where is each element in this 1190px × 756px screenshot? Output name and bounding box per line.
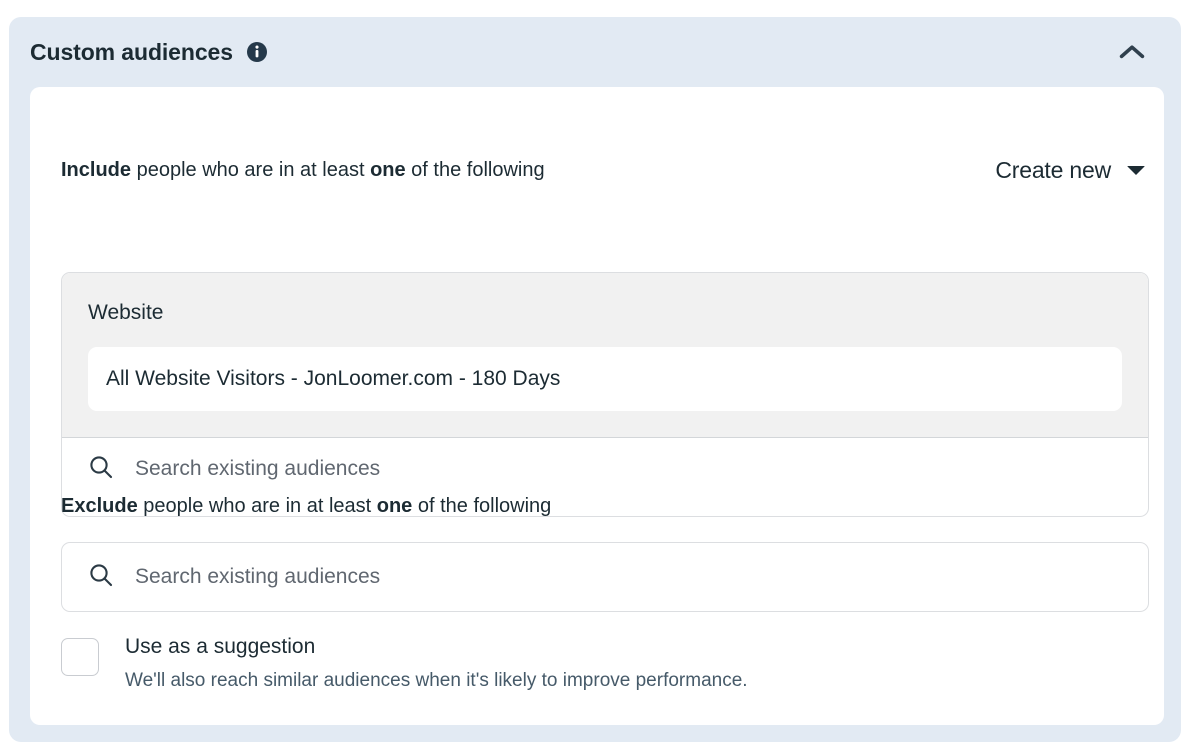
- create-new-label: Create new: [995, 157, 1111, 184]
- exclude-keyword: Exclude: [61, 495, 138, 517]
- include-one-keyword: one: [370, 159, 406, 181]
- exclude-rule-label: Exclude people who are in at least one o…: [61, 496, 551, 516]
- chevron-up-icon: [1119, 44, 1145, 60]
- include-rule-label: Include people who are in at least one o…: [61, 160, 545, 180]
- list-item[interactable]: All Website Visitors - JonLoomer.com - 1…: [88, 347, 1122, 411]
- include-rule-row: Include people who are in at least one o…: [61, 149, 1149, 191]
- exclude-search-row[interactable]: Search existing audiences: [61, 542, 1149, 612]
- audience-chip-label: All Website Visitors - JonLoomer.com - 1…: [106, 367, 560, 391]
- create-new-dropdown[interactable]: Create new: [995, 157, 1149, 184]
- include-search-input[interactable]: Search existing audiences: [135, 457, 380, 481]
- exclude-rule-row: Exclude people who are in at least one o…: [61, 487, 551, 525]
- use-as-suggestion-block: Use as a suggestion We'll also reach sim…: [61, 634, 1061, 694]
- use-as-suggestion-checkbox[interactable]: [61, 638, 99, 676]
- panel-header: Custom audiences: [9, 17, 1181, 87]
- exclude-search-input[interactable]: Search existing audiences: [135, 565, 380, 589]
- exclude-text-middle: people who are in at least: [138, 495, 377, 517]
- search-icon: [88, 454, 114, 485]
- search-icon: [88, 562, 114, 593]
- exclude-one-keyword: one: [377, 495, 413, 517]
- use-as-suggestion-description: We'll also reach similar audiences when …: [125, 669, 748, 694]
- page-title: Custom audiences: [30, 39, 233, 66]
- suggestion-text-group: Use as a suggestion We'll also reach sim…: [125, 634, 748, 694]
- audience-group-website: Website All Website Visitors - JonLoomer…: [62, 273, 1148, 438]
- custom-audiences-panel: Custom audiences Include people who are …: [9, 17, 1181, 742]
- include-text-middle: people who are in at least: [131, 159, 370, 181]
- info-icon[interactable]: [247, 42, 267, 62]
- audience-group-title: Website: [88, 301, 1122, 325]
- use-as-suggestion-label: Use as a suggestion: [125, 634, 748, 661]
- include-text-suffix: of the following: [406, 159, 545, 181]
- include-keyword: Include: [61, 159, 131, 181]
- caret-down-icon: [1127, 166, 1145, 175]
- include-audiences-box: Website All Website Visitors - JonLoomer…: [61, 272, 1149, 517]
- collapse-panel-button[interactable]: [1115, 35, 1149, 69]
- custom-audiences-card: Include people who are in at least one o…: [30, 87, 1164, 725]
- exclude-text-suffix: of the following: [412, 495, 551, 517]
